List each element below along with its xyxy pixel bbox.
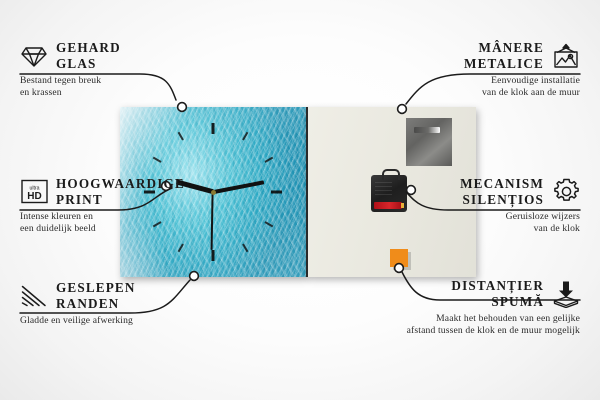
clock-tick	[212, 123, 215, 134]
feature-description: Geruisloze wijzers van de klok	[360, 211, 580, 236]
clock-tick	[264, 157, 273, 163]
feature-title: MECANISM SILENȚIOS	[460, 176, 544, 207]
gear-icon	[552, 178, 580, 206]
clock-tick	[153, 157, 162, 163]
clock-tick	[264, 221, 273, 227]
feature-title: MÂNERE METALICE	[464, 40, 544, 71]
feature-description: Intense kleuren en een duidelijk beeld	[20, 211, 220, 236]
feature-description: Gladde en veilige afwerking	[20, 315, 220, 327]
feature-header: GEHARD GLAS	[20, 40, 200, 71]
svg-text:HD: HD	[27, 191, 41, 202]
feature-header: MÂNERE METALICE	[360, 40, 580, 71]
picture-hanging-icon	[552, 42, 580, 70]
feature-hoogwaardige-print: ultra HD HOOGWAARDIGE PRINT Intense kleu…	[20, 176, 220, 236]
metal-hanger-plate	[406, 118, 452, 166]
feature-description: Bestand tegen breuk en krassen	[20, 75, 200, 100]
clock-tick	[212, 250, 215, 261]
feature-header: MECANISM SILENȚIOS	[360, 176, 580, 207]
spacer-arrow-icon	[552, 280, 580, 308]
diamond-icon	[20, 42, 48, 70]
feature-title: HOOGWAARDIGE PRINT	[56, 176, 185, 207]
ultra-hd-icon: ultra HD	[20, 178, 48, 206]
feature-title: DISTANȚIER SPUMĂ	[451, 278, 544, 309]
foam-spacer-pad	[390, 249, 408, 267]
feature-distantier-spuma: DISTANȚIER SPUMĂ Maakt het behouden van …	[280, 278, 580, 338]
feature-geslepen-randen: GESLEPEN RANDEN Gladde en veilige afwerk…	[20, 280, 220, 327]
clock-tick	[178, 132, 184, 141]
feature-mecanism-silentios: MECANISM SILENȚIOS Geruisloze wijzers va…	[360, 176, 580, 236]
clock-tick	[271, 191, 282, 194]
feature-description: Maakt het behouden van een gelijke afsta…	[280, 313, 580, 338]
clock-minute-hand	[213, 180, 265, 193]
clock-tick	[242, 132, 248, 141]
feature-gehard-glas: GEHARD GLAS Bestand tegen breuk en krass…	[20, 40, 200, 100]
feature-title: GESLEPEN RANDEN	[56, 280, 136, 311]
feature-manere-metalice: MÂNERE METALICE Eenvoudige installatie v…	[360, 40, 580, 100]
hanger-slot	[414, 127, 440, 133]
feature-header: ultra HD HOOGWAARDIGE PRINT	[20, 176, 220, 207]
feature-header: DISTANȚIER SPUMĂ	[280, 278, 580, 309]
feature-title: GEHARD GLAS	[56, 40, 121, 71]
feature-description: Eenvoudige installatie van de klok aan d…	[360, 75, 580, 100]
beveled-edges-icon	[20, 282, 48, 310]
product-infographic: GEHARD GLAS Bestand tegen breuk en krass…	[0, 0, 600, 400]
feature-header: GESLEPEN RANDEN	[20, 280, 220, 311]
clock-tick	[242, 243, 248, 252]
clock-tick	[178, 243, 184, 252]
